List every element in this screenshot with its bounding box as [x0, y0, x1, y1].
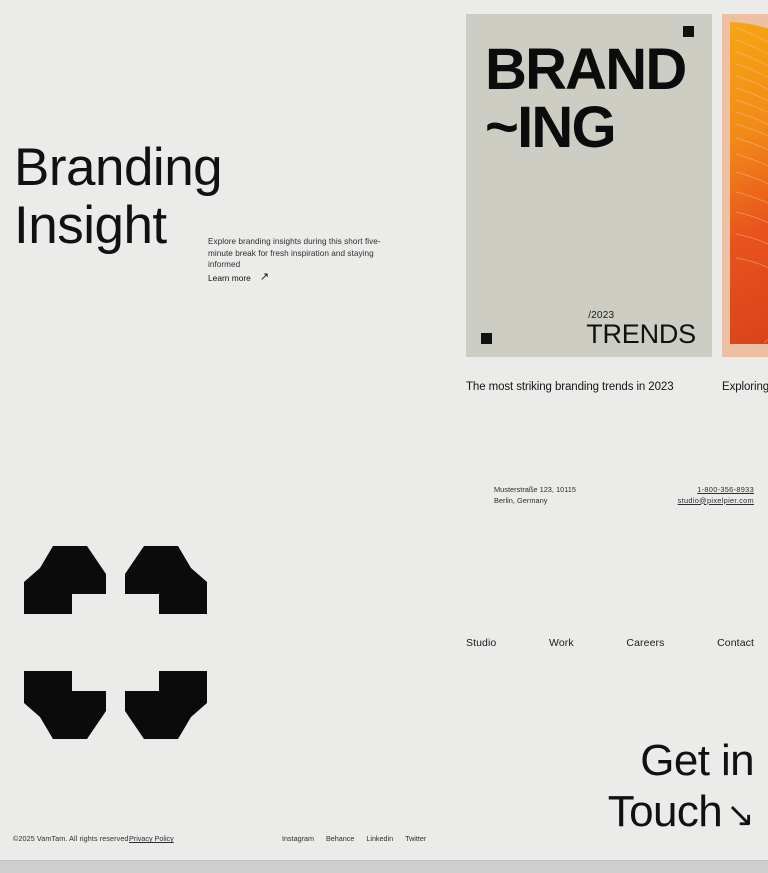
page-title: Branding Insight: [14, 139, 222, 255]
article-card-list: BRAND ~ING /2023 TRENDS The most strikin…: [466, 14, 768, 395]
page-root: Branding Insight Explore branding insigh…: [0, 0, 768, 864]
social-link-twitter[interactable]: Twitter: [405, 834, 426, 843]
footer-nav-item-studio[interactable]: Studio: [466, 637, 496, 649]
hero-description-text: Explore branding insights during this sh…: [208, 236, 398, 271]
phone-link[interactable]: 1-800-356-8933: [678, 485, 754, 496]
cta-line-2: Touch: [608, 787, 722, 836]
square-marker-icon: [481, 333, 492, 344]
get-in-touch-cta[interactable]: Get in Touch↘: [608, 735, 754, 841]
copyright-text: ©2025 VamTam. All rights reserved.: [13, 834, 131, 843]
address-line-2: Berlin, Germany: [494, 496, 576, 507]
learn-more-label: Learn more: [208, 273, 251, 283]
article-card-visual: [722, 14, 768, 357]
cta-line-1: Get in: [640, 736, 754, 785]
logo-ornament-icon: [12, 538, 219, 747]
footer-nav-item-contact[interactable]: Contact: [717, 637, 754, 649]
article-card[interactable]: BRAND ~ING /2023 TRENDS The most strikin…: [466, 14, 712, 395]
orange-fan-artwork: [722, 14, 768, 357]
square-marker-icon: [683, 26, 694, 37]
footer-nav-item-work[interactable]: Work: [549, 637, 574, 649]
brand-logo-mark: [12, 538, 219, 747]
article-card-footer: /2023 TRENDS: [586, 310, 696, 349]
address-line-1: Musterstraße 123, 10115: [494, 485, 576, 496]
hero-description: Explore branding insights during this sh…: [208, 236, 398, 271]
footer-nav-item-careers[interactable]: Careers: [626, 637, 664, 649]
arrow-up-right-icon: ↗: [260, 272, 269, 283]
page-title-line-1: Branding: [14, 138, 222, 197]
article-card-heading-line-1: BRAND: [485, 37, 685, 102]
social-links: Instagram Behance Linkedin Twitter: [282, 834, 426, 843]
footer-navigation: Studio Work Careers Contact: [466, 637, 754, 649]
contact-links: 1-800-356-8933 studio@pixelpier.com: [678, 485, 754, 506]
learn-more-link[interactable]: Learn more ↗: [208, 272, 269, 283]
bottom-bar: ©2025 VamTam. All rights reserved. Priva…: [0, 830, 768, 852]
horizontal-scrollbar-thumb[interactable]: [0, 861, 768, 873]
article-card-visual: BRAND ~ING /2023 TRENDS: [466, 14, 712, 357]
article-card[interactable]: Exploring: [722, 14, 768, 395]
article-card-trends-label: TRENDS: [586, 319, 696, 349]
social-link-linkedin[interactable]: Linkedin: [366, 834, 393, 843]
article-card-caption: Exploring: [722, 380, 768, 395]
horizontal-scrollbar[interactable]: [0, 860, 768, 872]
social-link-instagram[interactable]: Instagram: [282, 834, 314, 843]
article-card-heading-line-2: ~ING: [485, 100, 685, 156]
contact-address: Musterstraße 123, 10115 Berlin, Germany: [494, 485, 576, 506]
page-title-line-2: Insight: [14, 196, 167, 255]
email-link[interactable]: studio@pixelpier.com: [678, 496, 754, 507]
privacy-policy-link[interactable]: Privacy Policy: [129, 834, 174, 843]
article-card-heading: BRAND ~ING: [485, 42, 685, 156]
arrow-down-right-icon: ↘: [726, 796, 754, 834]
article-card-caption: The most striking branding trends in 202…: [466, 380, 712, 395]
social-link-behance[interactable]: Behance: [326, 834, 354, 843]
